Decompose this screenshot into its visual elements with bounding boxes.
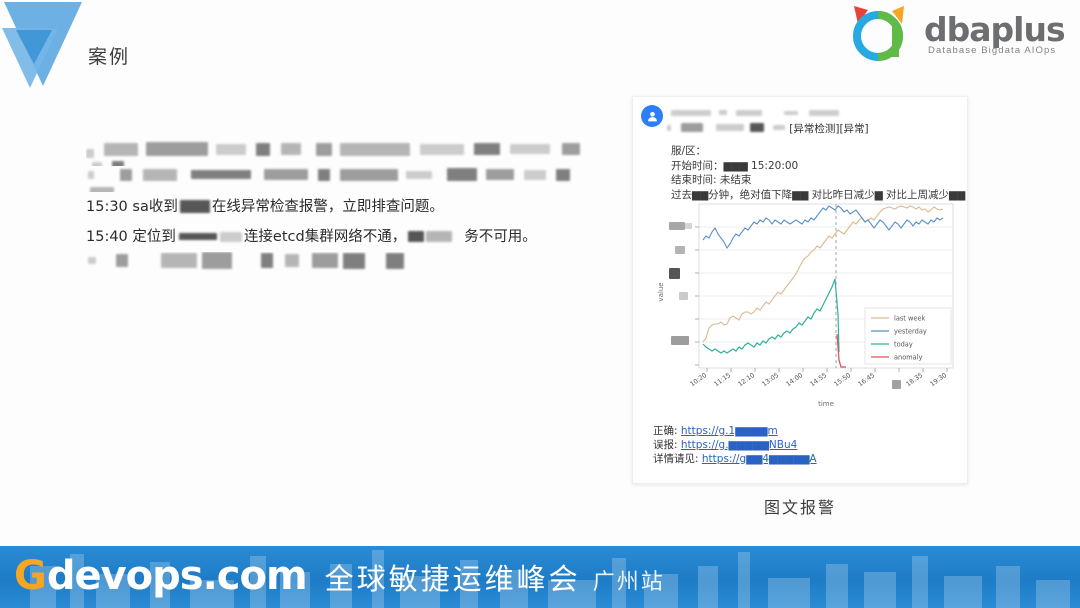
link-row-correct: 正确: https://g.1▆▆▆▆m — [653, 423, 817, 437]
alert-tags: [异常检测][异常] — [789, 123, 868, 135]
legend-label-yesterday: yesterday — [894, 328, 927, 336]
dbaplus-tagline: Database Bigdata AIOps — [928, 45, 1056, 56]
link-label-correct: 正确: — [653, 425, 678, 437]
page-title: 案例 — [88, 42, 130, 69]
redaction-mark — [408, 231, 424, 242]
redaction-mark — [179, 233, 217, 240]
legend-label-today: today — [894, 341, 913, 349]
anomaly-chart: value last week yesterday — [651, 200, 963, 415]
narrative-line-3-suffix: 在线异常检查报警，立即排查问题。 — [212, 199, 444, 215]
chart-legend: last week yesterday today anomaly — [865, 308, 951, 364]
alert-links: 正确: https://g.1▆▆▆▆m 误报: https://g.▆▆▆▆▆… — [653, 423, 817, 465]
detail-row-comparison: 过去▆▆分钟，绝对值下降▆▆ 对比昨日减少▆ 对比上周减少▆▆ — [671, 187, 963, 202]
detail-row-end-time: 结束时间: 未结束 — [671, 172, 963, 187]
footer-city: 广州站 — [593, 564, 665, 596]
svg-text:19:30: 19:30 — [928, 371, 948, 388]
svg-text:13:05: 13:05 — [760, 371, 780, 388]
narrative-line-4-prefix: 15:40 定位到 — [86, 229, 176, 245]
link-details[interactable]: https://g▆▆4▆▆▆▆▆A — [702, 453, 817, 465]
footer-text: Gdevops.com 全球敏捷运维峰会 广州站 — [14, 556, 665, 598]
svg-text:12:10: 12:10 — [736, 371, 756, 388]
avatar — [641, 105, 663, 127]
narrative-line-3: 15:30 sa收到在线异常检查报警，立即排查问题。 — [86, 192, 586, 222]
figure-caption: 图文报警 — [632, 494, 968, 518]
redaction-mark — [180, 200, 210, 213]
link-false-positive[interactable]: https://g.▆▆▆▆▆NBu4 — [681, 439, 797, 451]
detail-row-start-time: 开始时间：▆▆▆ 15:20:00 — [671, 158, 963, 173]
user-icon — [646, 110, 659, 123]
redaction-mark — [220, 232, 242, 242]
chart-ylabel: value — [657, 282, 665, 301]
dbaplus-mark-icon — [842, 4, 922, 62]
narrative-line-4: 15:40 定位到连接etcd集群网络不通，务不可用。 — [86, 222, 586, 252]
link-correct[interactable]: https://g.1▆▆▆▆m — [681, 425, 778, 437]
legend-label-last-week: last week — [894, 315, 925, 323]
chart-y-ticklabels-redacted — [669, 222, 692, 345]
link-row-details: 详情请见: https://g▆▆4▆▆▆▆▆A — [653, 451, 817, 465]
dbaplus-logo: dbaplus Database Bigdata AIOps — [842, 4, 1066, 64]
narrative-line-4-mid: 连接etcd集群网络不通， — [244, 229, 406, 245]
svg-text:11:15: 11:15 — [712, 371, 732, 388]
link-label-details: 详情请见: — [653, 453, 699, 465]
redacted-line-2 — [86, 166, 586, 192]
svg-text:14:00: 14:00 — [784, 371, 804, 388]
svg-text:14:55: 14:55 — [808, 371, 828, 388]
dbaplus-wordmark: dbaplus — [924, 10, 1065, 49]
detail-row-zone: 服/区： — [671, 143, 963, 158]
chart-svg: value last week yesterday — [651, 200, 963, 415]
narrative-line-3-prefix: 15:30 sa收到 — [86, 199, 178, 215]
svg-text:16:45: 16:45 — [856, 371, 876, 388]
legend-label-anomaly: anomaly — [894, 354, 923, 362]
narrative-block: 15:30 sa收到在线异常检查报警，立即排查问题。 15:40 定位到连接et… — [86, 140, 586, 278]
chart-x-ticks — [707, 368, 947, 372]
svg-text:18:35: 18:35 — [904, 371, 924, 388]
narrative-line-4-suffix: 务不可用。 — [464, 229, 537, 245]
chart-y-ticks — [695, 227, 699, 365]
chart-xlabel: time — [818, 400, 834, 408]
link-row-false-positive: 误报: https://g.▆▆▆▆▆NBu4 — [653, 437, 817, 451]
gdevops-logo-g: G — [14, 556, 47, 596]
message-subject: [异常检测][异常] — [667, 119, 961, 133]
redacted-line-5 — [86, 252, 586, 278]
alert-details: 服/区： 开始时间：▆▆▆ 15:20:00 结束时间: 未结束 过去▆▆分钟，… — [671, 143, 963, 201]
chart-x-ticklabel-redacted — [892, 380, 901, 389]
footer-band: Gdevops.com 全球敏捷运维峰会 广州站 — [0, 546, 1080, 608]
triangle-logo-icon — [0, 0, 86, 88]
svg-text:15:50: 15:50 — [832, 371, 852, 388]
redaction-mark — [426, 231, 452, 242]
redacted-line-1 — [86, 140, 586, 166]
alert-card: [异常检测][异常] 服/区： 开始时间：▆▆▆ 15:20:00 结束时间: … — [632, 96, 968, 484]
slide-root: 案例 dbaplus Database Bigdata AIOps — [0, 0, 1080, 608]
chart-x-ticklabels: 10:20 11:15 12:10 13:05 14:00 14:55 15:5… — [688, 371, 948, 388]
gdevops-logo-rest: devops.com — [47, 556, 307, 596]
footer-cn-title: 全球敏捷运维峰会 — [325, 556, 581, 598]
link-label-false-positive: 误报: — [653, 439, 678, 451]
svg-text:10:20: 10:20 — [688, 371, 708, 388]
